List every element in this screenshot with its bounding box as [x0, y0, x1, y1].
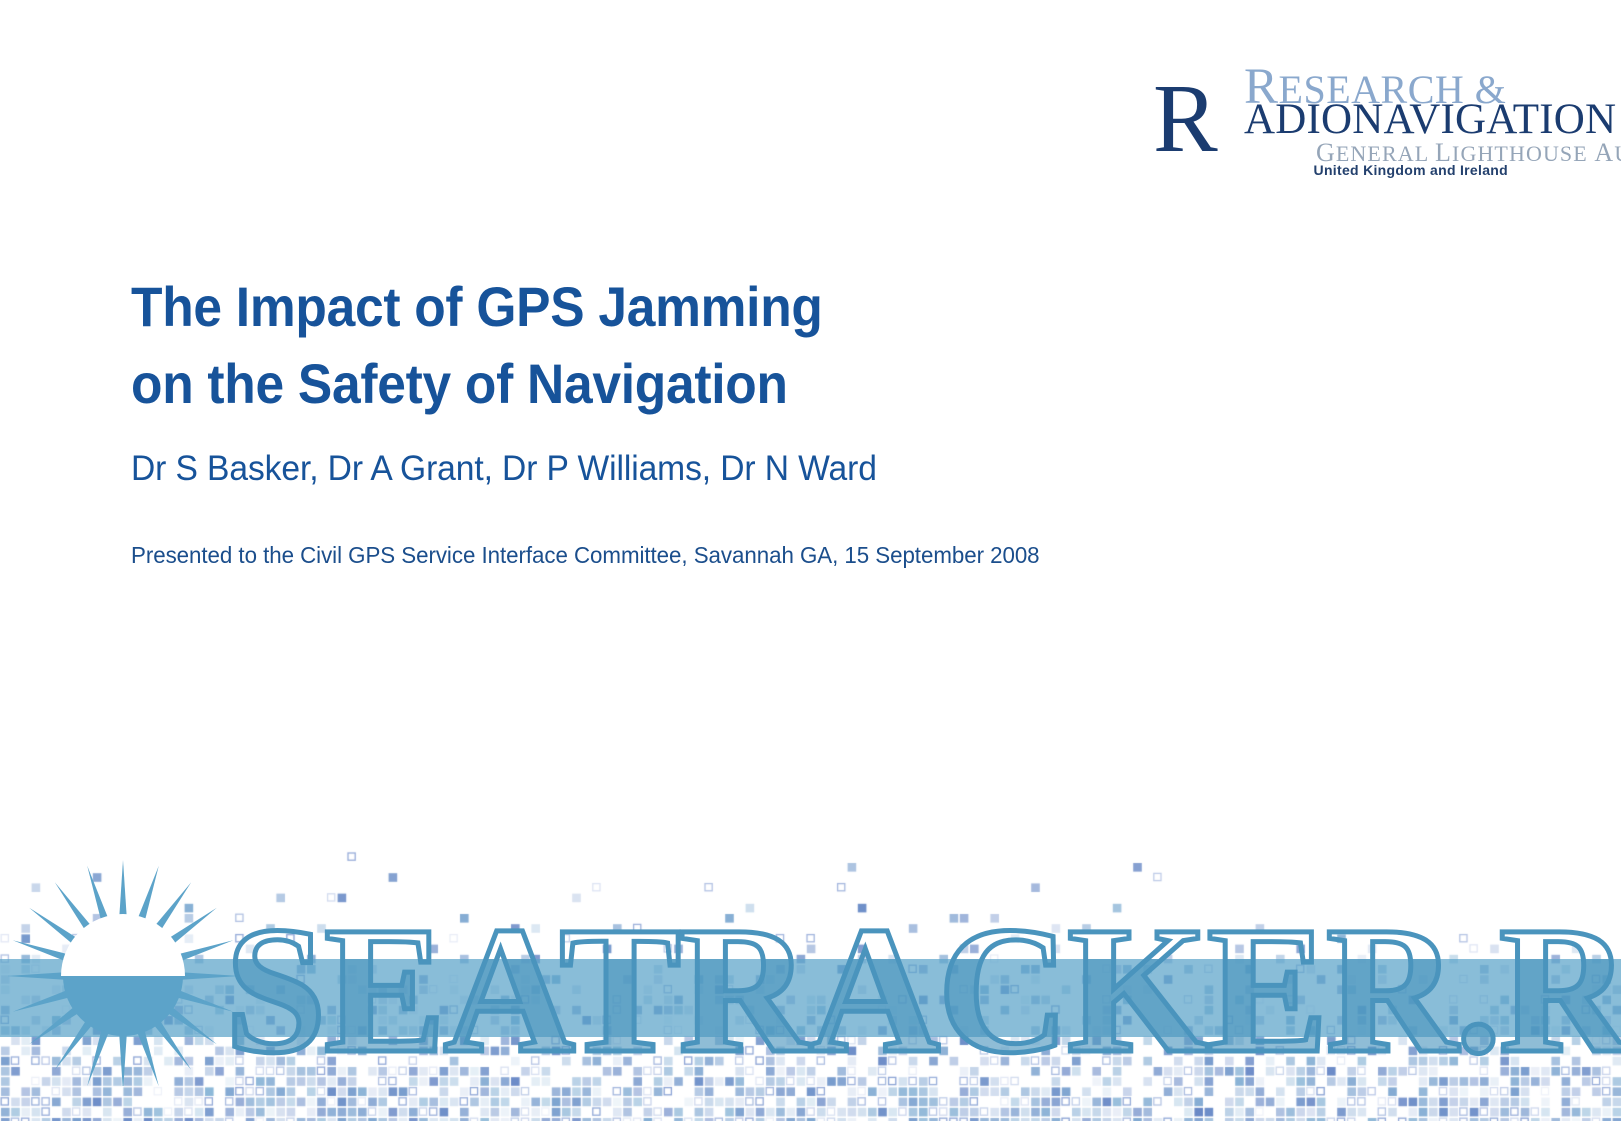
- authors-line: Dr S Basker, Dr A Grant, Dr P Williams, …: [131, 449, 877, 489]
- seatracker-watermark: SEATRACKER.RU SEATRACKER.RU: [0, 811, 1621, 1121]
- tagline-a: A: [1594, 138, 1614, 167]
- logo-big-initial-r: R: [1153, 79, 1218, 159]
- presented-to-line: Presented to the Civil GPS Service Inter…: [131, 542, 1040, 569]
- watermark-text-outline: SEATRACKER.RU: [225, 890, 1621, 1091]
- tagline-uthorities: UTHORITIES: [1614, 141, 1621, 166]
- slide-title-line-1: The Impact of GPS Jamming: [131, 268, 1051, 345]
- slide-title-line-2: on the Safety of Navigation: [131, 345, 1051, 422]
- gla-research-radionavigation-logo: R RESEARCH & ADIONAVIGATION GENERAL LIGH…: [1148, 62, 1508, 172]
- slide-title: The Impact of GPS Jamming on the Safety …: [131, 268, 1051, 423]
- logo-line-radionavigation: ADIONAVIGATION: [1244, 98, 1616, 141]
- bottom-decorative-graphic: SEATRACKER.RU SEATRACKER.RU: [0, 811, 1621, 1121]
- title-slide: R RESEARCH & ADIONAVIGATION GENERAL LIGH…: [0, 0, 1621, 1121]
- logo-country-line: United Kingdom and Ireland: [1314, 163, 1508, 177]
- logo-line2-rest: ADIONAVIGATION: [1244, 96, 1616, 143]
